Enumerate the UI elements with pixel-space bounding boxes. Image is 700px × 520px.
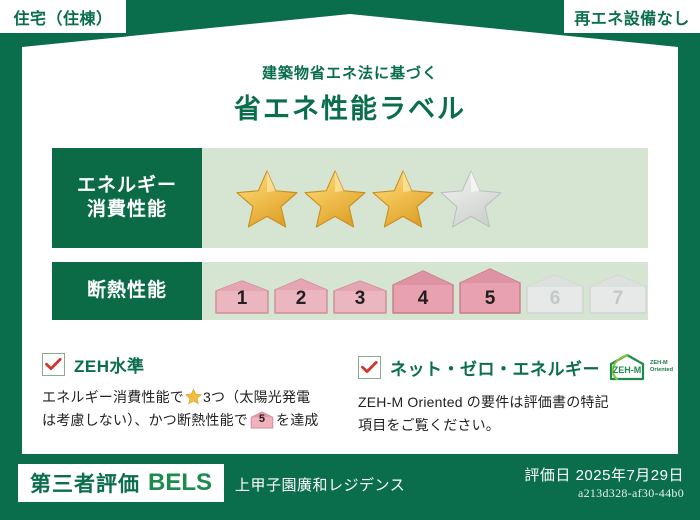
- insulation-performance-row: 断熱性能 1234567: [52, 262, 648, 320]
- insulation-level-active: 4: [391, 270, 455, 314]
- zeh-standard-block: ZEH水準 エネルギー消費性能で3つ（太陽光発電は考慮しない）、かつ断熱性能で5…: [42, 352, 332, 431]
- zeh-body-part4: を達成: [276, 412, 319, 428]
- footer: 第三者評価 BELS 上甲子園廣和レジデンス 評価日 2025年7月29日 a2…: [0, 454, 700, 520]
- energy-performance-label: エネルギー 消費性能: [52, 148, 202, 248]
- insulation-level-active: 5: [458, 268, 522, 314]
- title-block: 建築物省エネ法に基づく 省エネ性能ラベル: [0, 62, 700, 126]
- insulation-level-number: 3: [332, 288, 388, 310]
- insulation-level-number: 4: [391, 288, 455, 310]
- energy-label-line1: エネルギー: [77, 174, 177, 198]
- insulation-level-active: 3: [332, 280, 388, 314]
- insulation-level-inactive: 6: [525, 274, 585, 314]
- energy-label-line2: 消費性能: [87, 198, 167, 222]
- page-title: 省エネ性能ラベル: [0, 87, 700, 126]
- energy-performance-row: エネルギー 消費性能: [52, 148, 648, 248]
- zeh-body-part3: は考慮しない）、かつ断熱性能で: [42, 412, 248, 428]
- star-filled-icon: [236, 168, 298, 228]
- zeh-m-logo: ZEH-M ZEH-M Oriented: [606, 352, 673, 382]
- insulation-level-number: 6: [525, 288, 585, 310]
- star-filled-icon: [304, 168, 366, 228]
- insulation-level-number: 2: [273, 288, 329, 310]
- zeh-m-sub-line2: Oriented: [650, 367, 673, 373]
- check-icon: [42, 353, 65, 376]
- net-zero-header: ネット・ゼロ・エネルギー ZEH-M ZEH-M Oriented: [358, 352, 658, 382]
- housing-type-tab: 住宅（住棟）: [0, 0, 126, 33]
- svg-text:ZEH-M: ZEH-M: [613, 365, 642, 375]
- insulation-level-number: 5: [458, 288, 522, 310]
- check-icon: [358, 356, 381, 379]
- star-rating: [202, 168, 648, 228]
- zeh-standard-title: ZEH水準: [74, 352, 145, 377]
- insulation-level-number: 7: [588, 288, 648, 310]
- net-zero-title: ネット・ゼロ・エネルギー: [390, 355, 600, 380]
- insulation-label-text: 断熱性能: [87, 279, 167, 303]
- building-name: 上甲子園廣和レジデンス: [235, 474, 405, 495]
- inline-house-icon: 5: [250, 411, 274, 429]
- insulation-level-number: 1: [214, 288, 270, 310]
- title-subtitle: 建築物省エネ法に基づく: [0, 62, 700, 83]
- energy-performance-label: 住宅（住棟） 再エネ設備なし 建築物省エネ法に基づく 省エネ性能ラベル エネルギ…: [0, 0, 700, 520]
- insulation-level-active: 2: [273, 278, 329, 314]
- zeh-m-sub-line1: ZEH-M: [650, 360, 668, 366]
- bels-en-label: BELS: [148, 469, 212, 497]
- inline-star-icon: [185, 388, 202, 405]
- bels-badge: 第三者評価 BELS: [18, 464, 224, 502]
- net-zero-energy-block: ネット・ゼロ・エネルギー ZEH-M ZEH-M Oriented ZEH-M …: [358, 352, 658, 436]
- net-zero-body-line2: 項目をご覧ください。: [358, 417, 500, 433]
- zeh-body-part1: エネルギー消費性能で: [42, 389, 184, 405]
- evaluation-id: a213d328-af30-44b0: [578, 486, 684, 501]
- insulation-rating: 1234567: [202, 268, 651, 314]
- net-zero-body: ZEH-M Oriented の要件は評価書の特記 項目をご覧ください。: [358, 391, 658, 436]
- zeh-standard-header: ZEH水準: [42, 352, 332, 377]
- zeh-body-part2: 3つ（太陽光発電: [203, 389, 310, 405]
- insulation-performance-label: 断熱性能: [52, 262, 202, 320]
- star-filled-icon: [372, 168, 434, 228]
- insulation-level-inactive: 7: [588, 274, 648, 314]
- inline-house-number: 5: [250, 411, 274, 429]
- star-empty-icon: [440, 168, 502, 228]
- evaluation-date: 評価日 2025年7月29日: [524, 464, 684, 485]
- renewable-energy-tab: 再エネ設備なし: [564, 0, 700, 33]
- zeh-standard-body: エネルギー消費性能で3つ（太陽光発電は考慮しない）、かつ断熱性能で5を達成: [42, 386, 332, 431]
- insulation-level-active: 1: [214, 280, 270, 314]
- zeh-m-logo-sublabel: ZEH-M Oriented: [650, 360, 673, 374]
- bels-jp-label: 第三者評価: [30, 468, 140, 498]
- net-zero-body-line1: ZEH-M Oriented の要件は評価書の特記: [358, 394, 609, 410]
